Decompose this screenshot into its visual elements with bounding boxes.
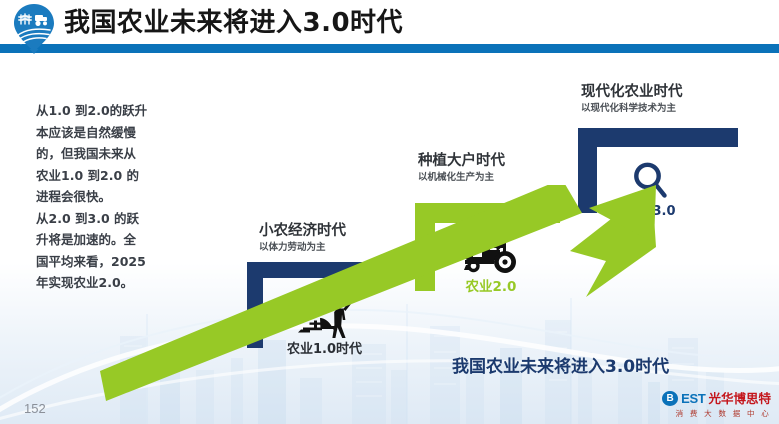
corporate-logo: B EST 光华博思特 消 费 大 数 据 中 心 [653, 390, 771, 420]
stage-2-era-label: 农业2.0 [443, 279, 539, 295]
farmer-plowing-icon [290, 296, 360, 340]
stage-3-era-label: 农业3.0 [609, 204, 693, 220]
stage-1-title: 小农经济时代 [259, 222, 346, 240]
agriculture-pin-logo-icon [8, 2, 60, 54]
left-description: 从1.0 到2.0的跃升本应该是自然缓慢的，但我国未来从农业1.0 到2.0 的… [36, 100, 148, 294]
magnifier-icon [629, 160, 673, 202]
left-paragraph-2: 从2.0 到3.0 的跃升将是加速的。全国平均来看，2025 年实现农业2.0。 [36, 208, 148, 294]
page-title: 我国农业未来将进入3.0时代 [64, 7, 403, 40]
stage-3-title: 现代化农业时代 [581, 83, 683, 101]
stage-1-bracket-leg [247, 262, 263, 348]
stage-3-subtitle: 以现代化科学技术为主 [581, 102, 683, 115]
stage-1-era: 农业1.0时代 [272, 296, 377, 358]
stage-3-bracket-leg [578, 128, 597, 213]
stage-1-era-label: 农业1.0时代 [272, 342, 377, 358]
page-number: 152 [24, 401, 46, 416]
brand-cn: 光华博思特 [708, 391, 771, 406]
stage-1-subtitle: 以体力劳动为主 [259, 241, 346, 254]
stage-2-title: 种植大户时代 [418, 152, 505, 170]
stage-3-caption: 现代化农业时代 以现代化科学技术为主 [581, 83, 683, 115]
stage-2-era: 农业2.0 [443, 235, 539, 295]
best-circle-mark-icon: B [662, 391, 678, 406]
tractor-icon [460, 235, 522, 277]
stage-2-subtitle: 以机械化生产为主 [418, 171, 505, 184]
stage-3-era: 农业3.0 [609, 160, 693, 220]
left-paragraph-1: 从1.0 到2.0的跃升本应该是自然缓慢的，但我国未来从农业1.0 到2.0 的… [36, 100, 148, 208]
stage-3-bracket-bar [578, 128, 738, 147]
stage-2-bracket-bar [415, 203, 560, 223]
bottom-headline: 我国农业未来将进入3.0时代 [452, 352, 669, 377]
stage-1-bracket-bar [247, 262, 362, 278]
brand-latin: EST [681, 391, 705, 406]
header: 我国农业未来将进入3.0时代 [0, 0, 779, 56]
stage-2-caption: 种植大户时代 以机械化生产为主 [418, 152, 505, 184]
stage-1-caption: 小农经济时代 以体力劳动为主 [259, 222, 346, 254]
header-accent-bar [16, 44, 779, 53]
stage-2-bracket-leg [415, 203, 435, 291]
slide: 我国农业未来将进入3.0时代 从1.0 到2.0的跃升本应该是自然缓慢的，但我国… [0, 0, 779, 424]
brand-tagline: 消 费 大 数 据 中 心 [653, 408, 771, 419]
